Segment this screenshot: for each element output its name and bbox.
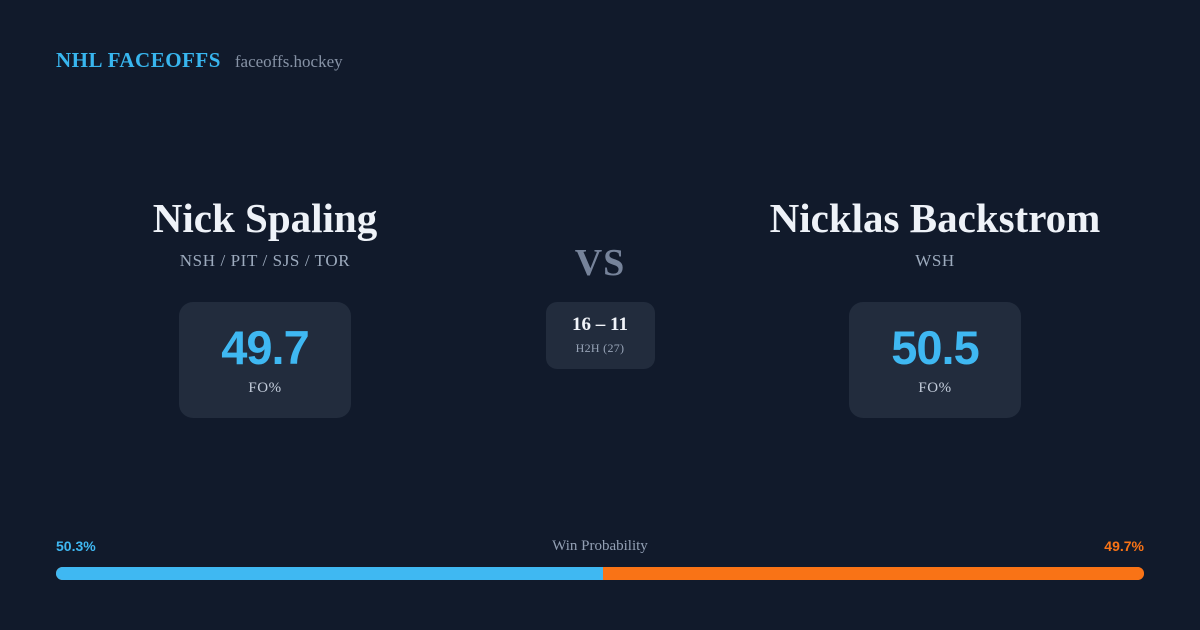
faceoff-percent-label-right: FO% — [918, 380, 951, 397]
faceoff-percent-left: 49.7 — [221, 324, 308, 371]
win-probability-fill-right — [603, 567, 1144, 580]
win-probability-bar — [56, 567, 1144, 580]
win-probability-section: 50.3% Win Probability 49.7% — [56, 538, 1144, 580]
matchup-row: Nick Spaling NSH / PIT / SJS / TOR 49.7 … — [0, 196, 1200, 418]
player-panel-right: Nicklas Backstrom WSH 50.5 FO% — [700, 196, 1170, 418]
faceoff-percent-right: 50.5 — [891, 324, 978, 371]
win-probability-fill-left — [56, 567, 603, 580]
head-to-head-score: 16 – 11 — [572, 315, 628, 334]
site-domain: faceoffs.hockey — [235, 52, 343, 72]
win-probability-value-right: 49.7% — [1104, 538, 1144, 554]
faceoff-percent-label-left: FO% — [248, 380, 281, 397]
player-name-left: Nick Spaling — [153, 196, 377, 240]
win-probability-title: Win Probability — [56, 538, 1144, 555]
player-panel-left: Nick Spaling NSH / PIT / SJS / TOR 49.7 … — [30, 196, 500, 418]
player-name-right: Nicklas Backstrom — [770, 196, 1101, 240]
head-to-head-box: 16 – 11 H2H (27) — [546, 302, 655, 369]
stat-card-left: 49.7 FO% — [179, 302, 351, 418]
matchup-center: VS 16 – 11 H2H (27) — [500, 196, 700, 369]
player-teams-left: NSH / PIT / SJS / TOR — [180, 251, 350, 271]
head-to-head-label: H2H (27) — [576, 341, 625, 356]
vs-label: VS — [575, 244, 626, 282]
win-probability-labels: 50.3% Win Probability 49.7% — [56, 538, 1144, 558]
stat-card-right: 50.5 FO% — [849, 302, 1021, 418]
player-teams-right: WSH — [915, 251, 955, 271]
brand-title: NHL FACEOFFS — [56, 48, 221, 73]
site-header: NHL FACEOFFS faceoffs.hockey — [56, 48, 343, 73]
